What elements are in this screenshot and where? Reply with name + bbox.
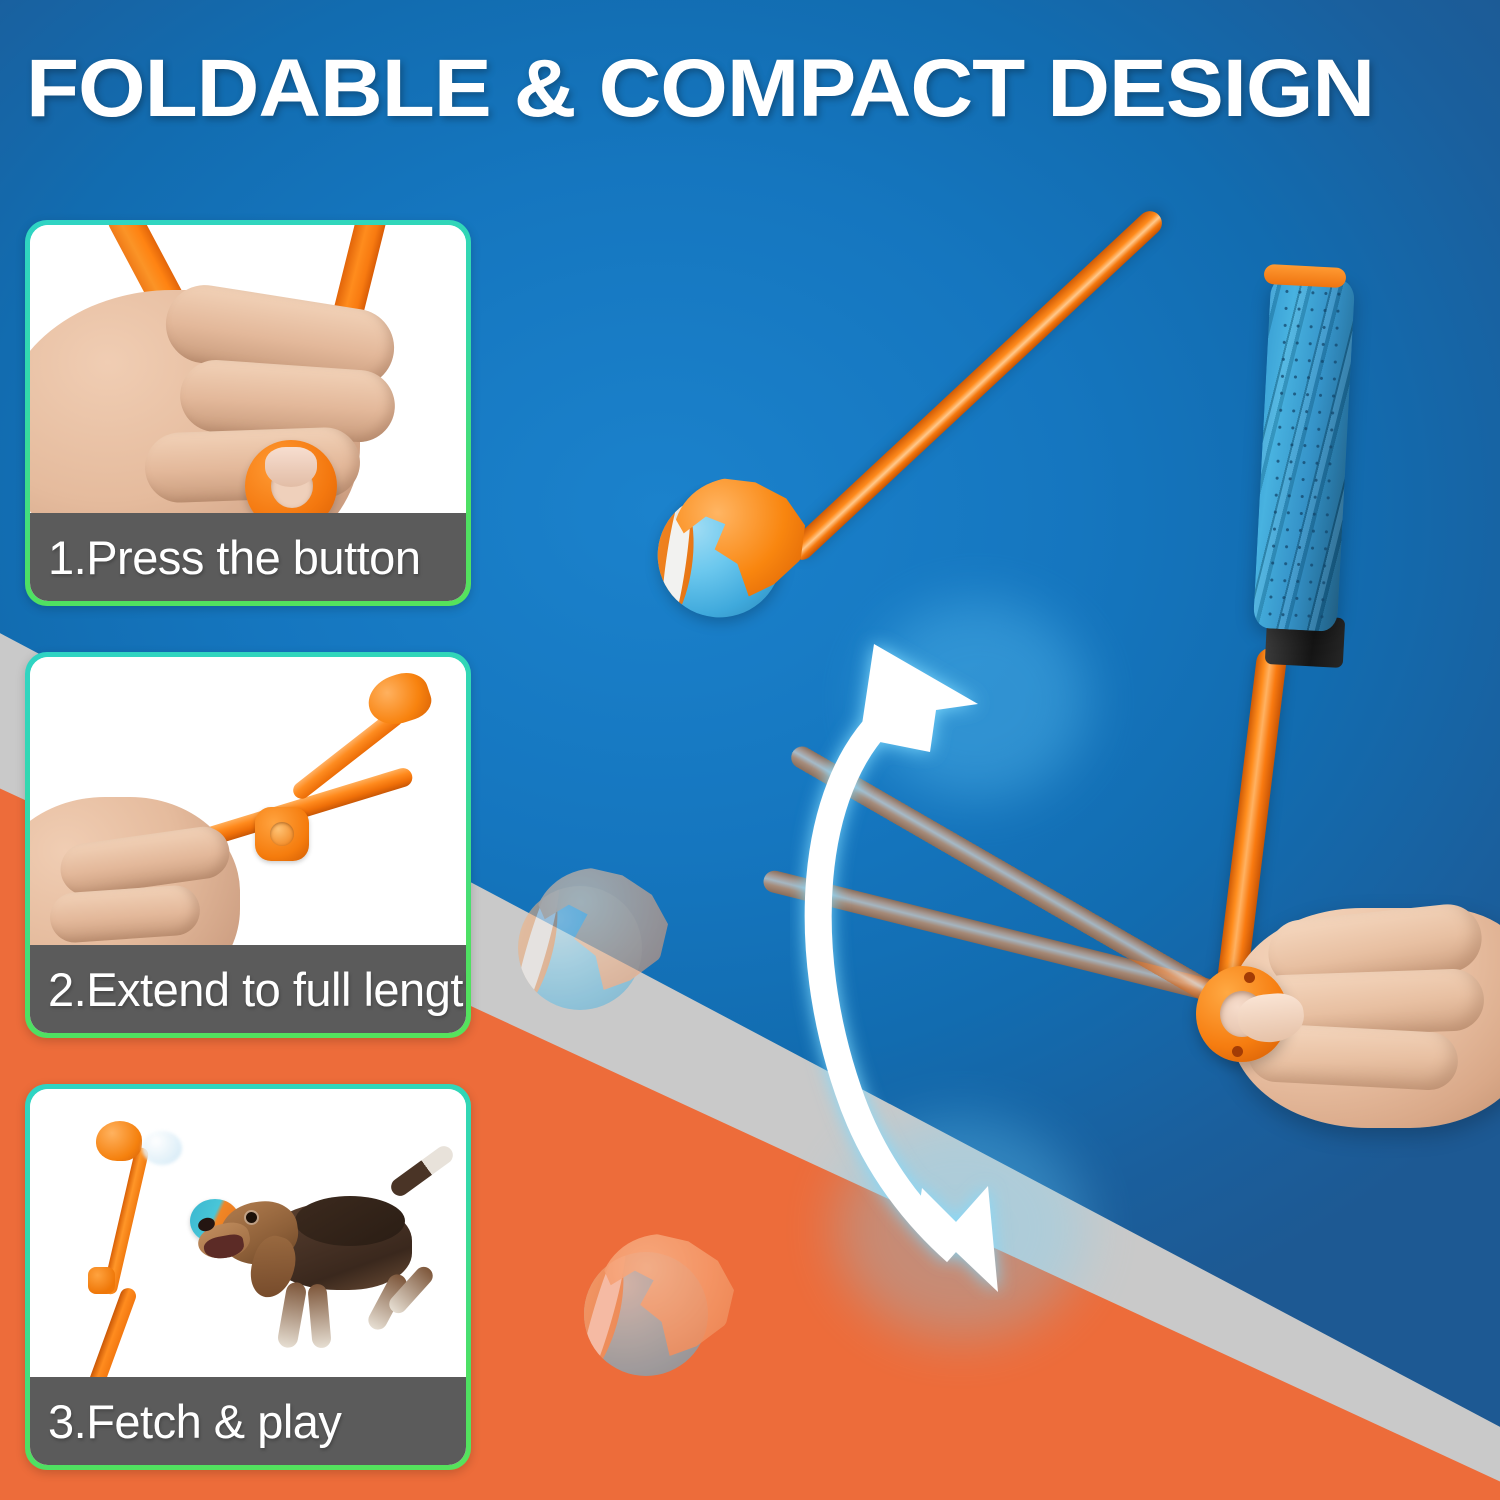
infographic-canvas: FOLDABLE & COMPACT DESIGN 1.Press the bu…	[0, 0, 1500, 1500]
dog-eye	[246, 1212, 257, 1223]
dog-back	[295, 1196, 405, 1246]
step-2-caption: 2.Extend to full length	[30, 945, 466, 1033]
thumb-tip	[265, 447, 317, 487]
step-card-1[interactable]: 1.Press the button	[25, 220, 471, 606]
handle-orange-cap	[1264, 264, 1347, 288]
step-card-2[interactable]: 2.Extend to full length	[25, 652, 471, 1038]
ball-motion-blur	[142, 1131, 182, 1165]
step-card-3[interactable]: 3.Fetch & play	[25, 1084, 471, 1470]
step-3-caption: 3.Fetch & play	[30, 1377, 466, 1465]
dog-leg	[307, 1283, 332, 1348]
launcher-pivot-hub	[88, 1267, 115, 1294]
page-title: FOLDABLE & COMPACT DESIGN	[26, 42, 1374, 136]
hub-screw-dot	[1232, 1046, 1243, 1057]
launcher-ball-cup	[96, 1121, 142, 1161]
beagle-dog	[190, 1144, 466, 1394]
ghost-ball-cup-assembly	[512, 872, 662, 1022]
step-1-caption: 1.Press the button	[30, 513, 466, 601]
step-card-3-inner: 3.Fetch & play	[30, 1089, 466, 1465]
step-card-2-inner: 2.Extend to full length	[30, 657, 466, 1033]
ghost-ball-cup-assembly	[578, 1238, 738, 1398]
launcher-ball-cup	[362, 667, 436, 732]
step-card-1-inner: 1.Press the button	[30, 225, 466, 601]
dog-tail	[388, 1143, 457, 1200]
launcher-pivot-hub	[255, 807, 309, 861]
swing-arrow-svg	[790, 620, 1120, 1300]
hand-finger	[48, 884, 201, 944]
swing-motion-arrow	[790, 620, 1120, 1300]
ball-cup-assembly	[650, 471, 814, 626]
hub-screw-dot	[1244, 972, 1255, 983]
